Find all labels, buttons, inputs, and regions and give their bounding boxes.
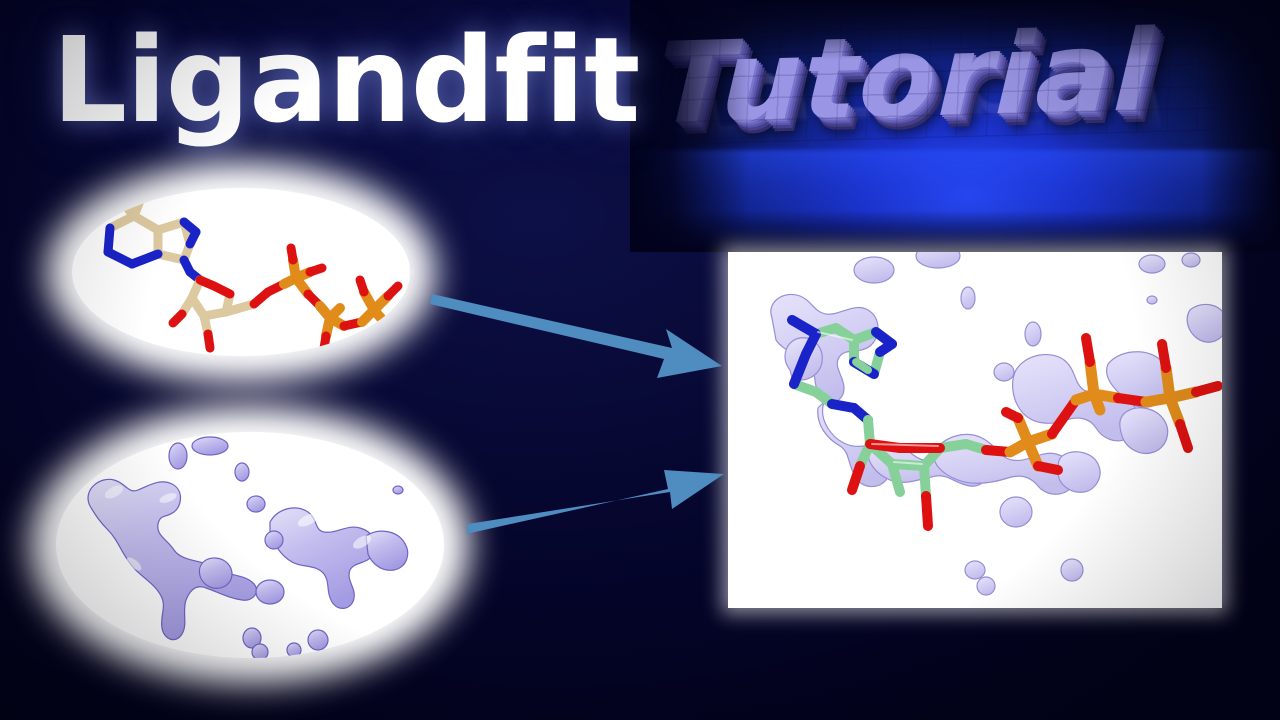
slide-vignette — [0, 0, 1280, 720]
slide-canvas: Tutorial Tutorial Ligandfit — [0, 0, 1280, 720]
